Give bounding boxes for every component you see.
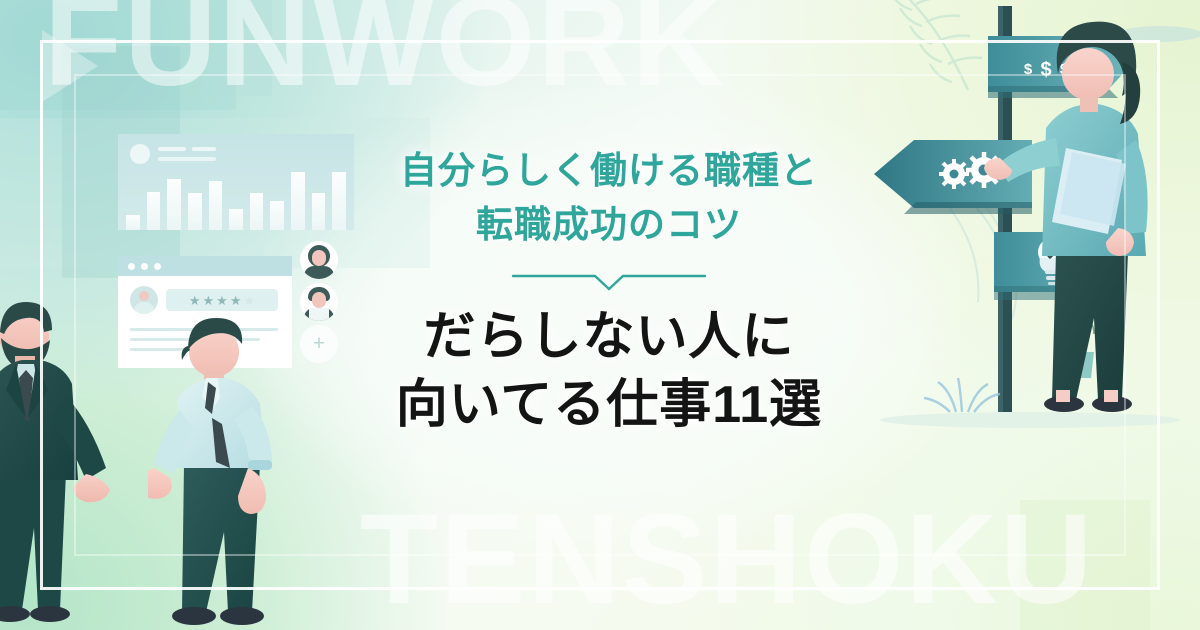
title-line-1: だらしない人に [396,304,822,372]
subtitle-line-1: 自分らしく働ける職種と [400,144,818,198]
page-title: だらしない人に 向いてる仕事11選 [396,304,822,439]
og-image-canvas: FUNWORK TENSHOKU ★★★★★ [0,0,1200,630]
subtitle-line-2: 転職成功のコツ [400,198,818,252]
down-notch-divider-icon [511,270,707,292]
title-line-2: 向いてる仕事11選 [396,372,822,440]
center-text-block: 自分らしく働ける職種と 転職成功のコツ だらしない人に 向いてる仕事11選 [336,0,882,630]
subtitle: 自分らしく働ける職種と 転職成功のコツ [400,144,818,252]
